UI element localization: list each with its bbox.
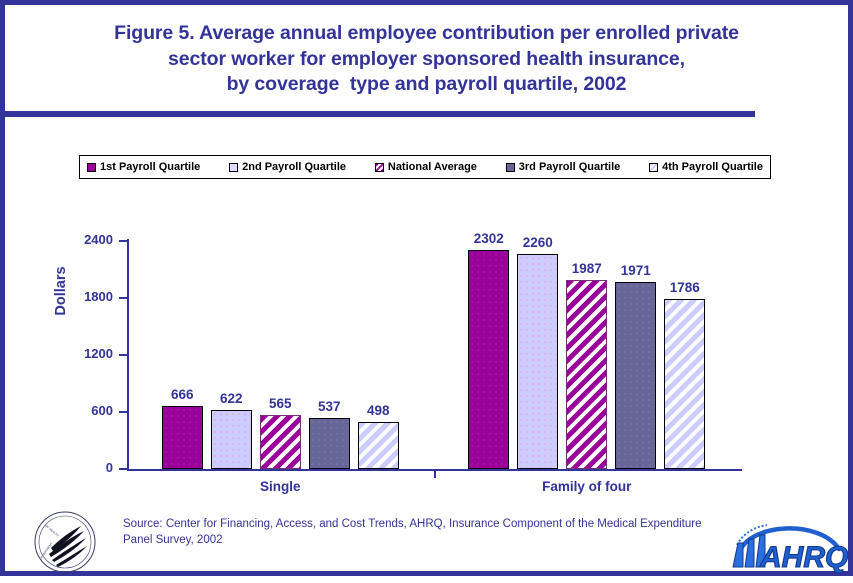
y-axis-tick-label: 1800: [84, 289, 113, 304]
y-axis-labels: 0600120018002400: [5, 5, 113, 581]
bar-value-label: 1971: [607, 263, 664, 278]
legend-label-5: 4th Payroll Quartile: [662, 161, 763, 173]
y-axis-tick: [119, 297, 129, 299]
page-title: Figure 5. Average annual employee contri…: [5, 21, 848, 98]
bar-2-1[interactable]: [468, 250, 509, 469]
legend-item-5[interactable]: 4th Payroll Quartile: [649, 161, 763, 173]
legend-item-3[interactable]: National Average: [375, 161, 477, 173]
y-axis-tick-label: 600: [91, 403, 113, 418]
source-note: Source: Center for Financing, Access, an…: [123, 516, 723, 548]
legend-label-4: 3rd Payroll Quartile: [519, 161, 620, 173]
y-axis-tick: [119, 468, 129, 470]
bar-value-label: 1786: [656, 280, 713, 295]
bar-2-4[interactable]: [615, 282, 656, 469]
title-line-3: by coverage type and payroll quartile, 2…: [5, 72, 848, 98]
plot-area: 66662256553749823022260198719711786: [127, 241, 740, 469]
legend-item-2[interactable]: 2nd Payroll Quartile: [229, 161, 346, 173]
bar-2-5[interactable]: [664, 299, 705, 469]
bar-1-3[interactable]: [260, 415, 301, 469]
legend-label-2: 2nd Payroll Quartile: [242, 161, 346, 173]
y-axis-tick-label: 2400: [84, 232, 113, 247]
bar-value-label: 498: [350, 403, 407, 418]
bar-2-2[interactable]: [517, 254, 558, 469]
bar-2-3[interactable]: [566, 280, 607, 469]
chart-legend: 1st Payroll Quartile 2nd Payroll Quartil…: [79, 155, 771, 179]
bar-value-label: 2260: [509, 235, 566, 250]
title-divider-rule: [5, 111, 755, 117]
legend-swatch-icon-3: [375, 163, 384, 172]
bar-1-5[interactable]: [358, 422, 399, 469]
x-axis-category-label: Single: [127, 479, 434, 494]
svg-text:OF HEALTH: OF HEALTH: [44, 524, 59, 538]
legend-swatch-icon-5: [649, 163, 658, 172]
bar-1-2[interactable]: [211, 410, 252, 469]
y-axis-tick: [119, 354, 129, 356]
y-axis-tick: [119, 411, 129, 413]
x-axis-category-label: Family of four: [434, 479, 741, 494]
legend-swatch-icon-4: [506, 163, 515, 172]
title-line-2: sector worker for employer sponsored hea…: [5, 47, 848, 73]
legend-item-4[interactable]: 3rd Payroll Quartile: [506, 161, 620, 173]
hhs-seal-logo: DEPARTMENT OF HEALTH: [19, 510, 111, 578]
ahrq-logo: AHRQ: [727, 513, 849, 575]
svg-text:AHRQ: AHRQ: [759, 541, 848, 574]
x-axis-category-divider: [434, 469, 436, 478]
title-line-1: Figure 5. Average annual employee contri…: [5, 21, 848, 47]
y-axis-tick-label: 0: [106, 460, 113, 475]
slide-canvas: Figure 5. Average annual employee contri…: [0, 0, 853, 576]
bar-1-4[interactable]: [309, 418, 350, 469]
legend-label-1: 1st Payroll Quartile: [100, 161, 200, 173]
y-axis-tick: [119, 240, 129, 242]
legend-label-3: National Average: [388, 161, 477, 173]
bar-1-1[interactable]: [162, 406, 203, 469]
legend-swatch-icon-2: [229, 163, 238, 172]
y-axis-tick-label: 1200: [84, 346, 113, 361]
